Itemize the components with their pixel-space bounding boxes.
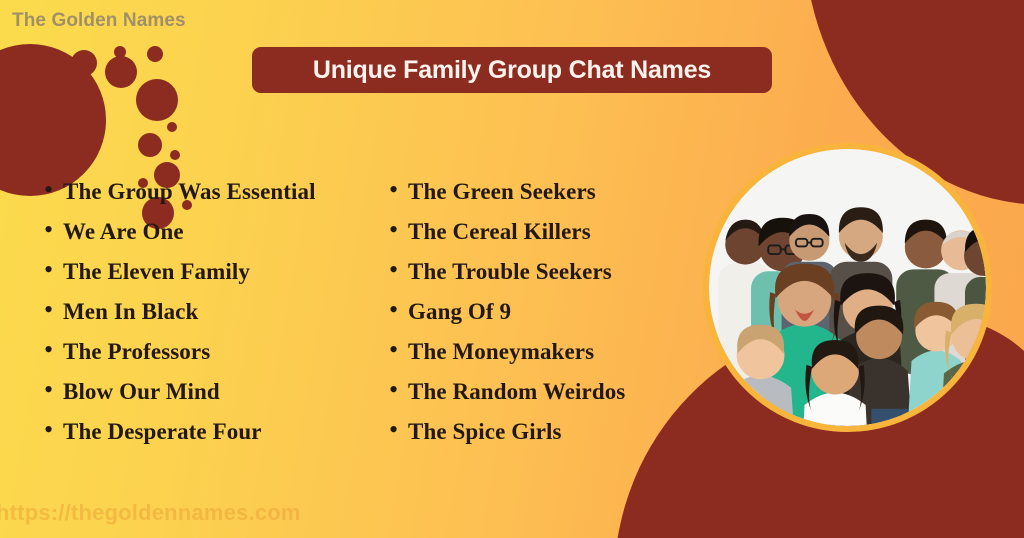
chat-name-label: The Spice Girls (408, 419, 562, 445)
bullet-icon: • (389, 217, 408, 243)
chat-name-label: The Trouble Seekers (408, 259, 612, 285)
list-item: •The Group Was Essential (44, 178, 316, 218)
chat-name-label: The Professors (63, 339, 210, 365)
list-item: •The Cereal Killers (389, 218, 625, 258)
list-item: •The Green Seekers (389, 178, 625, 218)
chat-name-label: Men In Black (63, 299, 198, 325)
page-title: Unique Family Group Chat Names (313, 56, 711, 85)
list-item: •The Trouble Seekers (389, 258, 625, 298)
family-photo (709, 149, 986, 426)
chat-name-label: The Cereal Killers (408, 219, 591, 245)
chat-name-label: The Random Weirdos (408, 379, 625, 405)
list-item: •Men In Black (44, 298, 316, 338)
bullet-icon: • (44, 417, 63, 443)
family-photo-illustration (709, 149, 986, 426)
bullet-icon: • (44, 217, 63, 243)
decor-dot (136, 79, 178, 121)
list-item: •Blow Our Mind (44, 378, 316, 418)
chat-name-label: The Group Was Essential (63, 179, 316, 205)
name-list-left: •The Group Was Essential•We Are One•The … (44, 178, 316, 458)
list-item: •The Random Weirdos (389, 378, 625, 418)
decor-dot (71, 50, 97, 76)
title-banner: Unique Family Group Chat Names (252, 47, 772, 93)
bullet-icon: • (44, 337, 63, 363)
list-item: •The Moneymakers (389, 338, 625, 378)
list-item: •The Spice Girls (389, 418, 625, 458)
bullet-icon: • (44, 297, 63, 323)
chat-name-label: We Are One (63, 219, 184, 245)
decor-dot (138, 133, 162, 157)
chat-name-label: The Eleven Family (63, 259, 250, 285)
decor-dot (147, 46, 163, 62)
photo-ring-border (703, 143, 992, 432)
bullet-icon: • (389, 177, 408, 203)
chat-name-label: The Moneymakers (408, 339, 594, 365)
brand-watermark: The Golden Names (12, 10, 186, 32)
bullet-icon: • (44, 257, 63, 283)
chat-name-label: The Green Seekers (408, 179, 596, 205)
bullet-icon: • (44, 177, 63, 203)
list-item: •The Professors (44, 338, 316, 378)
bullet-icon: • (389, 337, 408, 363)
list-item: •The Eleven Family (44, 258, 316, 298)
decor-dot (170, 150, 180, 160)
list-item: •The Desperate Four (44, 418, 316, 458)
list-item: •We Are One (44, 218, 316, 258)
bullet-icon: • (389, 377, 408, 403)
bullet-icon: • (389, 257, 408, 283)
bullet-icon: • (44, 377, 63, 403)
chat-name-label: Blow Our Mind (63, 379, 220, 405)
name-list-right: •The Green Seekers•The Cereal Killers•Th… (389, 178, 625, 458)
decor-dot (167, 122, 177, 132)
footer-url[interactable]: https://thegoldennames.com (0, 500, 301, 526)
infographic-canvas: The Golden Names Unique Family Group Cha… (0, 0, 1024, 538)
bullet-icon: • (389, 417, 408, 443)
bullet-icon: • (389, 297, 408, 323)
chat-name-label: The Desperate Four (63, 419, 262, 445)
decor-dot (105, 56, 137, 88)
chat-name-label: Gang Of 9 (408, 299, 511, 325)
list-item: •Gang Of 9 (389, 298, 625, 338)
